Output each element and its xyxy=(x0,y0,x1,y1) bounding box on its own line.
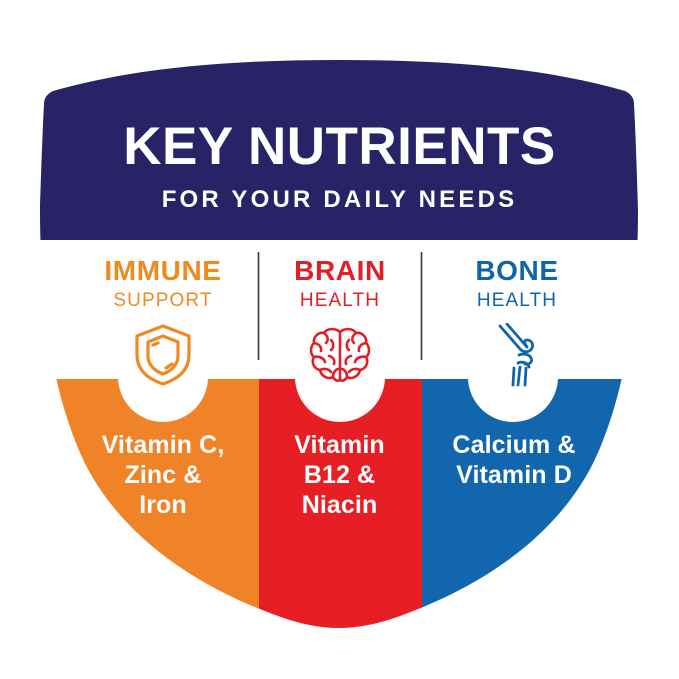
column-subtitle-brain: HEALTH xyxy=(245,288,435,314)
column-heading-brain: BRAIN HEALTH xyxy=(245,255,435,314)
column-subtitle-bone: HEALTH xyxy=(422,288,612,314)
column-subtitle-immune: SUPPORT xyxy=(68,288,258,314)
column-title-brain: BRAIN xyxy=(245,255,435,287)
key-nutrients-infographic: KEY NUTRIENTS FOR YOUR DAILY NEEDS IMMUN… xyxy=(0,0,679,679)
icon-slot-immune xyxy=(68,322,258,388)
icon-slot-brain xyxy=(245,322,435,388)
icon-slot-bone xyxy=(422,322,612,388)
header-band xyxy=(0,0,679,240)
brain-icon xyxy=(309,326,371,384)
band-immune xyxy=(0,379,259,679)
band-brain xyxy=(259,379,422,679)
column-title-bone: BONE xyxy=(422,255,612,287)
band-bone xyxy=(422,379,679,679)
column-title-immune: IMMUNE xyxy=(68,255,258,287)
column-heading-immune: IMMUNE SUPPORT xyxy=(68,255,258,314)
knee-joint-icon xyxy=(494,323,540,387)
column-heading-bone: BONE HEALTH xyxy=(422,255,612,314)
nutrient-bands xyxy=(0,379,679,679)
shield-icon xyxy=(133,323,193,387)
